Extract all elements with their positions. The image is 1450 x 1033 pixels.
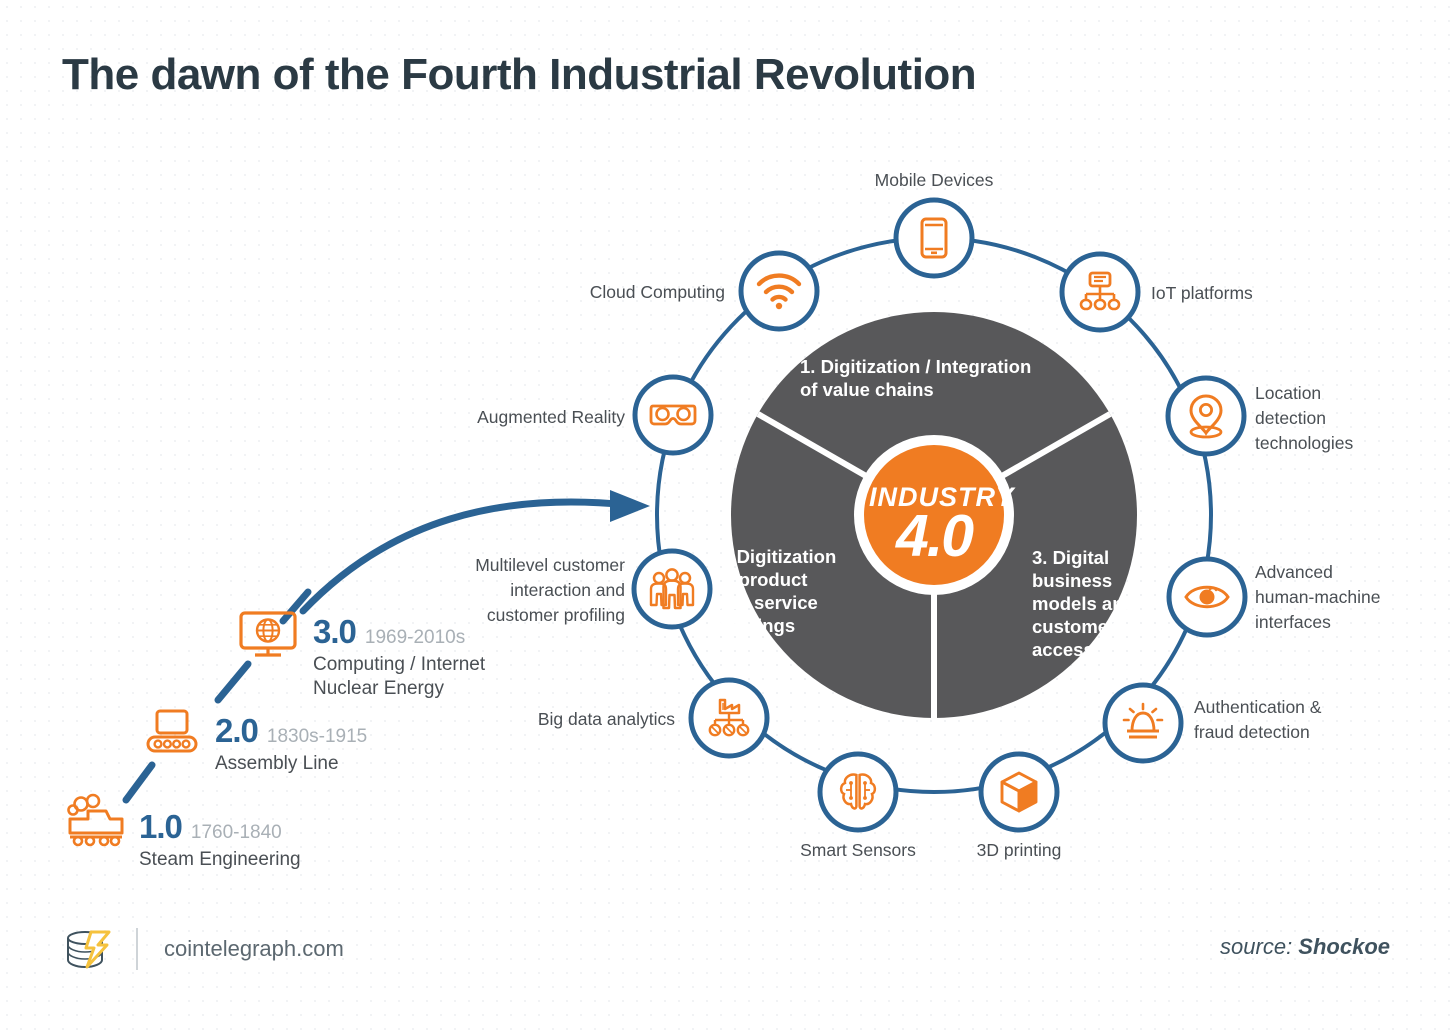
timeline-era-1: 1.01760-1840 Steam Engineering (139, 808, 301, 872)
label-cloud-computing: Cloud Computing (495, 280, 725, 305)
node-multilevel-customer[interactable] (634, 551, 710, 627)
timeline-description-1: Steam Engineering (139, 848, 301, 872)
timeline-years-1: 1760-1840 (191, 822, 282, 844)
timeline-description-3: Computing / Internet Nuclear Energy (313, 653, 485, 701)
node-augmented-reality[interactable] (635, 377, 711, 453)
timeline-years-2: 1830s-1915 (267, 726, 367, 748)
timeline-icon-2 (148, 711, 196, 751)
timeline-era-3: 3.01969-2010s Computing / Internet Nucle… (313, 613, 485, 701)
center-version-number: 4.0 (869, 502, 999, 570)
node-smart-sensors[interactable] (820, 754, 896, 830)
label-3d-printing: 3D printing (939, 838, 1099, 863)
timeline-dash-2-3 (218, 664, 248, 700)
label-mobile-devices: Mobile Devices (834, 168, 1034, 193)
label-augmented-reality: Augmented Reality (410, 405, 625, 430)
infographic-stage: 1. Digitization / Integration of value c… (0, 0, 1450, 1033)
node-location-detection[interactable] (1168, 378, 1244, 454)
sector-label-1: 1. Digitization / Integration of value c… (800, 355, 1070, 401)
node-mobile-devices[interactable] (896, 200, 972, 276)
label-smart-sensors: Smart Sensors (778, 838, 938, 863)
node-iot-platforms[interactable] (1062, 254, 1138, 330)
timeline-dash-1-2 (126, 765, 152, 800)
timeline-version-1: 1.0 (139, 808, 182, 846)
footer-site-url[interactable]: cointelegraph.com (164, 936, 344, 962)
footer-divider (136, 928, 138, 970)
label-human-machine-interfaces: Advanced human-machine interfaces (1255, 560, 1435, 635)
footer-source-prefix: source: (1220, 934, 1298, 959)
node-authentication[interactable] (1105, 685, 1181, 761)
timeline-years-3: 1969-2010s (365, 627, 465, 649)
footer-logo-slot (62, 925, 110, 973)
sector-label-2: 2. Digitization of product and service o… (716, 545, 886, 637)
sector-label-3: 3. Digital business models and customer … (1032, 546, 1182, 661)
node-cloud-computing[interactable] (741, 253, 817, 329)
node-big-data-analytics[interactable] (691, 680, 767, 756)
timeline-version-2: 2.0 (215, 712, 258, 750)
label-iot-platforms: IoT platforms (1151, 281, 1351, 306)
label-authentication: Authentication & fraud detection (1194, 695, 1414, 745)
diagram-svg (0, 0, 1450, 1033)
timeline-era-2: 2.01830s-1915 Assembly Line (215, 712, 367, 776)
footer-brand: cointelegraph.com (62, 925, 344, 973)
timeline-version-3: 3.0 (313, 613, 356, 651)
footer-source-name: Shockoe (1298, 934, 1390, 959)
label-location-detection: Location detection technologies (1255, 381, 1435, 456)
footer-source: source: Shockoe (1220, 934, 1390, 960)
timeline-description-2: Assembly Line (215, 752, 367, 776)
node-3d-printing[interactable] (981, 754, 1057, 830)
label-big-data-analytics: Big data analytics (460, 707, 675, 732)
timeline-icon-1 (69, 795, 123, 845)
